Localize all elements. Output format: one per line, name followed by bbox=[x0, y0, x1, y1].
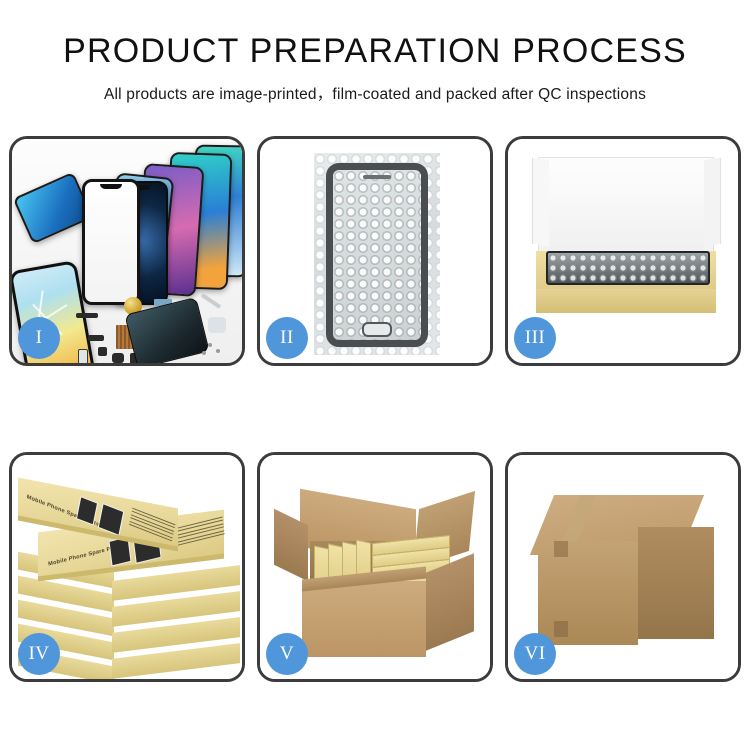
screw-part bbox=[208, 343, 212, 347]
notch-icon bbox=[100, 184, 122, 189]
screw-part bbox=[202, 351, 206, 355]
box-flap-left bbox=[532, 158, 549, 246]
home-button-icon bbox=[362, 322, 392, 337]
wrapped-screen bbox=[326, 163, 428, 347]
carton-front bbox=[538, 541, 638, 645]
page-header: PRODUCT PREPARATION PROCESS All products… bbox=[0, 0, 750, 104]
step-badge-1: I bbox=[18, 317, 60, 359]
step-panel-6: VI bbox=[505, 452, 741, 682]
phone-glass-front bbox=[82, 179, 140, 305]
process-steps-grid: I II bbox=[9, 136, 741, 682]
earpiece-icon bbox=[363, 175, 391, 179]
sim-tray-part bbox=[78, 349, 88, 363]
step-panel-1: I bbox=[9, 136, 245, 366]
step-badge-4: IV bbox=[18, 633, 60, 675]
bubble-wrap-sheet bbox=[314, 153, 440, 355]
step-panel-5: V bbox=[257, 452, 493, 682]
packed-screen bbox=[546, 251, 710, 285]
step-panel-3: III bbox=[505, 136, 741, 366]
foam-padding bbox=[548, 181, 704, 257]
small-part bbox=[112, 353, 124, 363]
step-badge-6: VI bbox=[514, 633, 556, 675]
carton-front bbox=[302, 581, 426, 657]
step-panel-4: Mobile Phone Spare Parts Mobile Phone Sp… bbox=[9, 452, 245, 682]
carton-side bbox=[638, 527, 714, 639]
small-part bbox=[88, 335, 104, 341]
step-panel-2: II bbox=[257, 136, 493, 366]
page-subtitle: All products are image-printed，film-coat… bbox=[0, 82, 750, 104]
carton-tab bbox=[554, 621, 568, 637]
page-title: PRODUCT PREPARATION PROCESS bbox=[0, 34, 750, 70]
step-badge-5: V bbox=[266, 633, 308, 675]
connector-part bbox=[76, 313, 98, 318]
tweezers-tool bbox=[201, 293, 221, 309]
step-badge-3: III bbox=[514, 317, 556, 359]
small-part bbox=[98, 347, 107, 356]
tool-part bbox=[208, 317, 226, 333]
product-preparation-infographic: PRODUCT PREPARATION PROCESS All products… bbox=[0, 0, 750, 750]
box-front-panel bbox=[536, 289, 716, 313]
step-badge-2: II bbox=[266, 317, 308, 359]
screw-part bbox=[216, 349, 220, 353]
carton-tab bbox=[554, 541, 568, 557]
box-flap-right bbox=[704, 158, 721, 246]
